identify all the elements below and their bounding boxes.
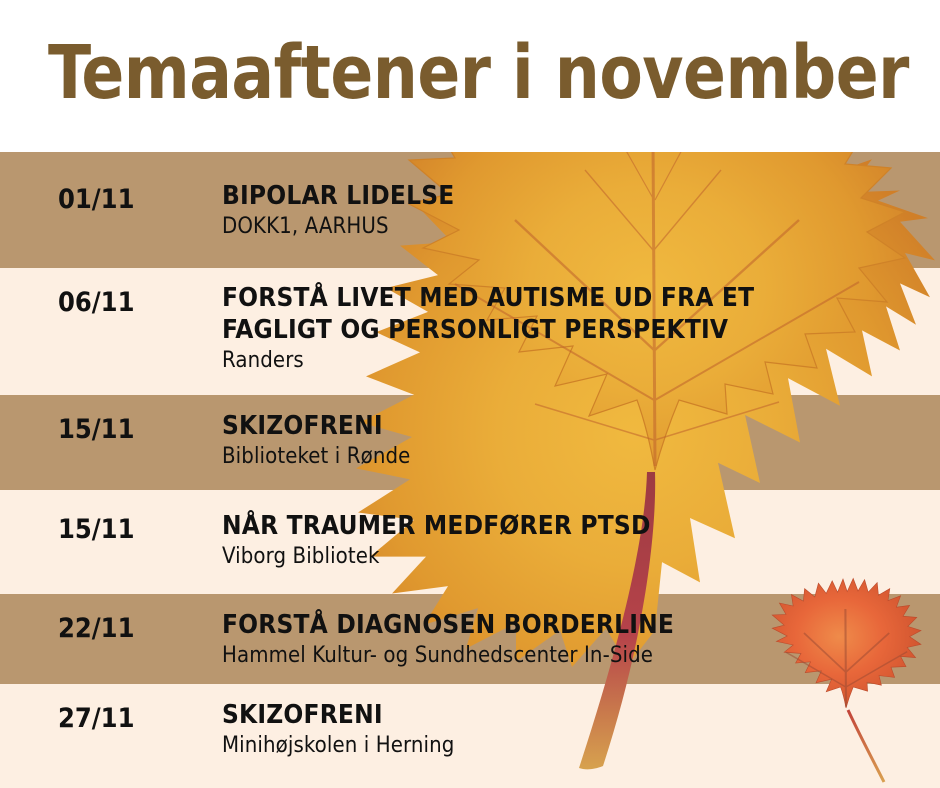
event-venue: Viborg Bibliotek xyxy=(222,543,930,571)
event-date: 15/11 xyxy=(58,515,134,545)
event-row-4[interactable]: 15/11 NÅR TRAUMER MEDFØRER PTSD Viborg B… xyxy=(0,490,940,594)
event-venue: DOKK1, AARHUS xyxy=(222,213,930,241)
event-row-5[interactable]: 22/11 FORSTÅ DIAGNOSEN BORDERLINE Hammel… xyxy=(0,594,940,684)
event-date: 22/11 xyxy=(58,614,134,644)
event-body: FORSTÅ LIVET MED AUTISME UD FRA ET FAGLI… xyxy=(222,282,930,375)
event-date: 01/11 xyxy=(58,185,134,215)
event-title-line-1: FORSTÅ LIVET MED AUTISME UD FRA ET xyxy=(222,283,754,313)
event-row-1[interactable]: 01/11 BIPOLAR LIDELSE DOKK1, AARHUS xyxy=(0,152,940,268)
poster-header: Temaaftener i november xyxy=(0,0,940,152)
event-venue: Biblioteket i Rønde xyxy=(222,443,930,471)
event-venue: Hammel Kultur- og Sundhedscenter In-Side xyxy=(222,642,930,670)
event-title: SKIZOFRENI xyxy=(222,410,930,442)
event-row-2[interactable]: 06/11 FORSTÅ LIVET MED AUTISME UD FRA ET… xyxy=(0,268,940,395)
event-venue: Minihøjskolen i Herning xyxy=(222,732,930,760)
event-date: 06/11 xyxy=(58,288,134,318)
event-title: FORSTÅ DIAGNOSEN BORDERLINE xyxy=(222,609,930,641)
event-row-3[interactable]: 15/11 SKIZOFRENI Biblioteket i Rønde xyxy=(0,395,940,490)
event-body: FORSTÅ DIAGNOSEN BORDERLINE Hammel Kultu… xyxy=(222,609,930,670)
event-title: SKIZOFRENI xyxy=(222,699,930,731)
event-body: SKIZOFRENI Minihøjskolen i Herning xyxy=(222,699,930,760)
event-date: 15/11 xyxy=(58,415,134,445)
event-title: NÅR TRAUMER MEDFØRER PTSD xyxy=(222,510,930,542)
event-title-line-2: FAGLIGT OG PERSONLIGT PERSPEKTIV xyxy=(222,314,930,346)
event-row-6[interactable]: 27/11 SKIZOFRENI Minihøjskolen i Herning xyxy=(0,684,940,788)
event-date: 27/11 xyxy=(58,704,134,734)
event-body: BIPOLAR LIDELSE DOKK1, AARHUS xyxy=(222,180,930,241)
event-title: FORSTÅ LIVET MED AUTISME UD FRA ET FAGLI… xyxy=(222,282,930,346)
poster-canvas: Temaaftener i november 01/11 BIPOLAR LID… xyxy=(0,0,940,788)
event-body: SKIZOFRENI Biblioteket i Rønde xyxy=(222,410,930,471)
event-title: BIPOLAR LIDELSE xyxy=(222,180,930,212)
page-title: Temaaftener i november xyxy=(48,30,909,116)
event-venue: Randers xyxy=(222,347,930,375)
event-body: NÅR TRAUMER MEDFØRER PTSD Viborg Bibliot… xyxy=(222,510,930,571)
